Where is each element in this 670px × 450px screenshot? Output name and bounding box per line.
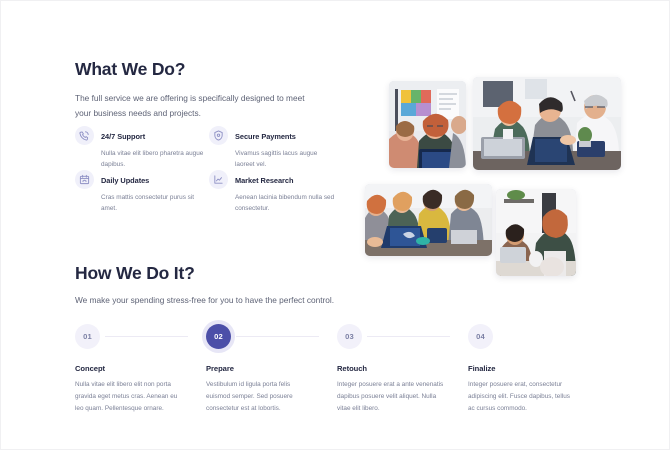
section-what-we-do: What We Do? The full service we are offe… [1, 45, 670, 235]
feature-title: 24/7 Support [101, 132, 145, 141]
feature-title: Market Research [235, 176, 293, 185]
step-title: Prepare [206, 364, 313, 373]
step-item-retouch[interactable]: 03 Retouch Integer posuere erat a ante v… [337, 321, 468, 415]
step-title: Concept [75, 364, 182, 373]
photo-collage [356, 45, 656, 281]
page-title: What We Do? [75, 59, 330, 80]
feature-text: Cras mattis consectetur purus sit amet. [101, 192, 205, 214]
calendar-refresh-icon [75, 170, 94, 189]
step-marker: 01 [75, 321, 182, 351]
step-marker: 04 [468, 321, 575, 351]
chart-line-icon [209, 170, 228, 189]
feature-item-secure-payments[interactable]: Secure Payments Vivamus sagittis lacus a… [209, 125, 335, 169]
shield-check-icon [209, 126, 228, 145]
step-text: Vestibulum id ligula porta felis euismod… [206, 379, 313, 415]
feature-item-support[interactable]: 24/7 Support Nulla vitae elit libero pha… [75, 125, 209, 169]
step-connector-line [105, 336, 188, 337]
step-item-concept[interactable]: 01 Concept Nulla vitae elit libero elit … [75, 321, 206, 415]
section-how-we-do-it: How We Do It? We make your spending stre… [1, 263, 670, 450]
step-item-finalize[interactable]: 04 Finalize Integer posuere erat, consec… [468, 321, 599, 415]
step-number-badge[interactable]: 04 [468, 324, 493, 349]
step-text: Nulla vitae elit libero elit non porta g… [75, 379, 182, 415]
step-marker: 03 [337, 321, 444, 351]
how-we-do-it-subtitle: We make your spending stress-free for yo… [75, 293, 334, 307]
feature-text: Aenean lacinia bibendum nulla sed consec… [235, 192, 335, 214]
feature-text: Vivamus sagittis lacus augue laoreet vel… [235, 148, 335, 170]
photo-team-meeting-laptops [473, 77, 621, 170]
steps-timeline: 01 Concept Nulla vitae elit libero elit … [75, 321, 599, 415]
step-title: Finalize [468, 364, 575, 373]
step-text: Integer posuere erat, consectetur adipis… [468, 379, 575, 415]
step-connector-line [236, 336, 319, 337]
feature-title: Daily Updates [101, 176, 149, 185]
feature-grid: 24/7 Support Nulla vitae elit libero pha… [75, 125, 335, 213]
photo-two-women-tablet [389, 81, 466, 168]
what-we-do-subtitle: The full service we are offering is spec… [75, 91, 307, 120]
feature-text: Nulla vitae elit libero pharetra augue d… [101, 148, 205, 170]
section-title-how: How We Do It? [75, 263, 195, 284]
what-we-do-intro: What We Do? The full service we are offe… [75, 59, 330, 120]
phone-support-icon [75, 126, 94, 145]
photo-group-workshop [365, 184, 492, 256]
step-number-badge[interactable]: 03 [337, 324, 362, 349]
feature-title: Secure Payments [235, 132, 296, 141]
feature-item-daily-updates[interactable]: Daily Updates Cras mattis consectetur pu… [75, 169, 209, 213]
step-number-badge[interactable]: 01 [75, 324, 100, 349]
step-text: Integer posuere erat a ante venenatis da… [337, 379, 444, 415]
step-connector-line [367, 336, 450, 337]
step-item-prepare[interactable]: 02 Prepare Vestibulum id ligula porta fe… [206, 321, 337, 415]
landing-page: What We Do? The full service we are offe… [0, 0, 670, 450]
step-number-badge-active[interactable]: 02 [206, 324, 231, 349]
step-title: Retouch [337, 364, 444, 373]
step-marker: 02 [206, 321, 313, 351]
feature-item-market-research[interactable]: Market Research Aenean lacinia bibendum … [209, 169, 335, 213]
